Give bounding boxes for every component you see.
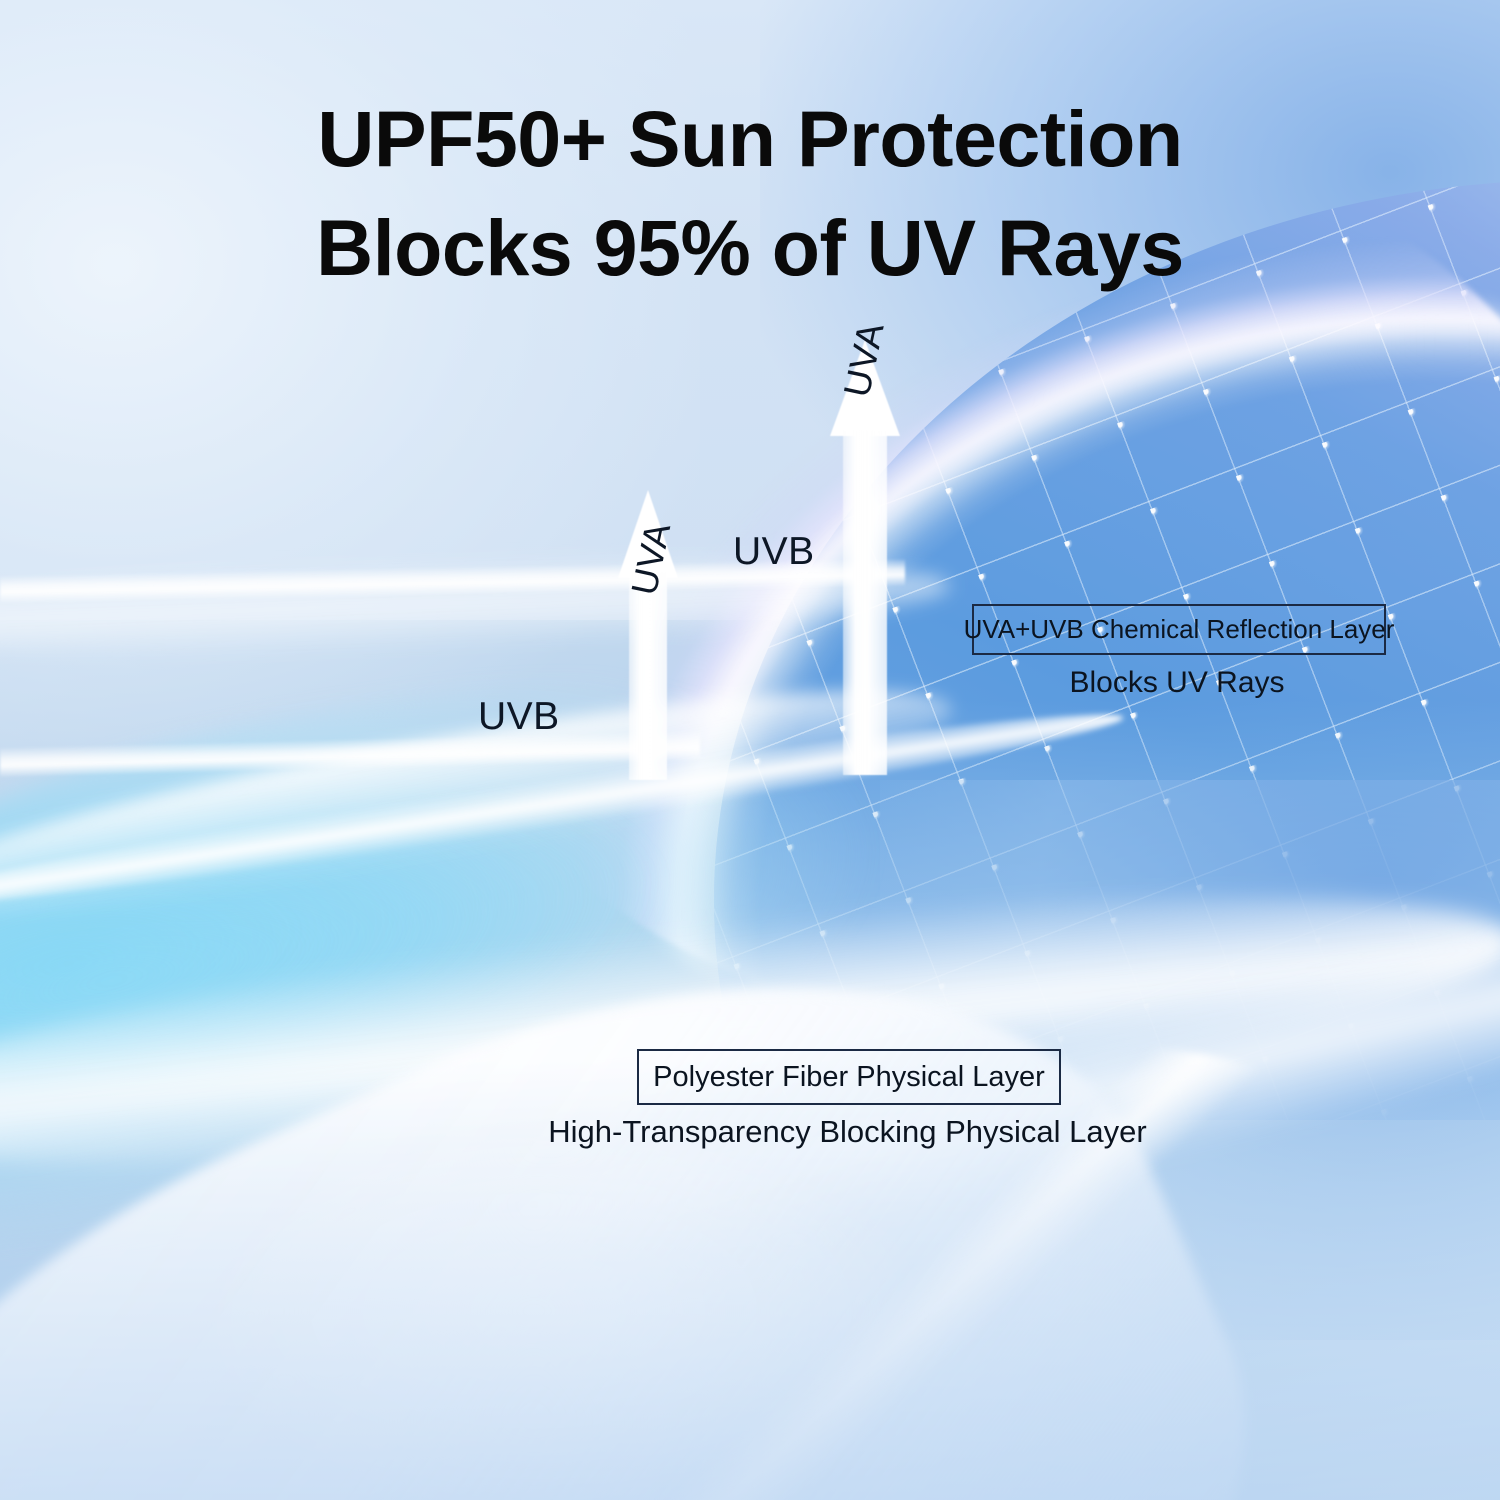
- uvb-label-lower: UVB: [478, 695, 560, 739]
- uvb-label-upper: UVB: [733, 530, 815, 574]
- page-title: UPF50+ Sun Protection Blocks 95% of UV R…: [0, 84, 1500, 302]
- uva-label-lower: UVA: [623, 519, 679, 599]
- sun-protection-infographic: UVA UVA UVB UVB UPF50+ Sun Protection Bl…: [0, 0, 1500, 1500]
- callout-chemical-reflection-layer: UVA+UVB Chemical Reflection Layer: [972, 604, 1386, 655]
- uva-label-upper: UVA: [836, 319, 893, 401]
- callout-physical-subtext: High-Transparency Blocking Physical Laye…: [460, 1114, 1235, 1150]
- callout-polyester-fiber-layer: Polyester Fiber Physical Layer: [637, 1049, 1061, 1105]
- callout-chemical-subtext: Blocks UV Rays: [972, 666, 1382, 700]
